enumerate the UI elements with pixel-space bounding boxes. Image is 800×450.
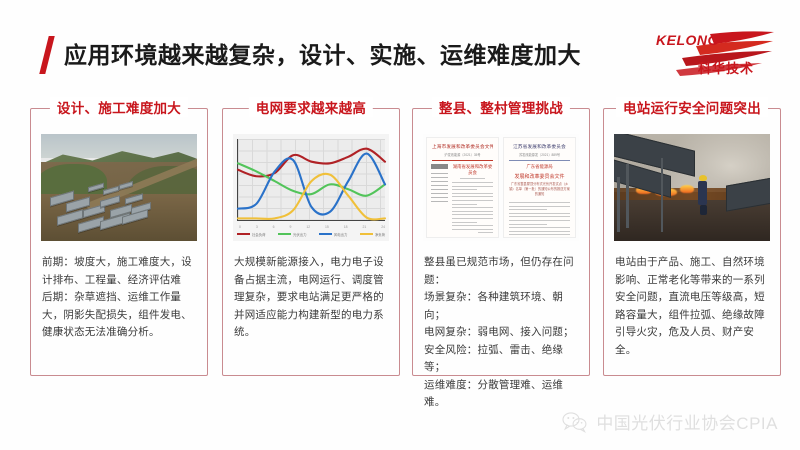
logo-latin-text: KELONG — [656, 32, 719, 48]
legend-label: 风电出力 — [334, 232, 348, 237]
legend-label: 净负荷 — [375, 232, 385, 237]
legend-swatch — [278, 233, 291, 235]
panel-title: 电网要求越来越高 — [249, 97, 373, 117]
panel-title: 整县、整村管理挑战 — [432, 97, 570, 117]
title-accent-slash — [39, 36, 54, 74]
kelong-logo: KELONG 科华技术 — [652, 28, 778, 84]
panel-body-text: 电站由于产品、施工、自然环境影响、正常老化等带来的一系列安全问题，直流电压等级高… — [615, 254, 771, 359]
document-red-title: 湖南省发展和改革委员会 — [452, 164, 493, 176]
panel-body-text: 前期：坡度大，施工难度大，设计排布、工程量、经济评估难 后期：杂草遮挡、运维工作… — [42, 254, 198, 342]
legend-label: 光伏出力 — [293, 232, 307, 237]
chart-plot-area — [237, 139, 385, 221]
slide-root: 应用环境越来越复杂，设计、实施、运维难度加大 KELONG 科华技术 设计、施工… — [0, 0, 800, 450]
panel-body-text: 整县虽已规范市场，但仍存在问题： 场景复杂：各种建筑环境、朝向； 电网复杂：弱电… — [424, 254, 580, 412]
panel-county-village-management: 整县、整村管理挑战 上海市发展和改革委员会文件 沪发改能源〔2021〕35号 湖… — [412, 108, 590, 376]
document-note: 广东省整县屋顶分布式光伏开发试点（乡镇）名单〔第一批〕的通知公布的报送方案的通知 — [509, 182, 570, 197]
panel-operation-safety: 电站运行安全问题突出 电站由于产品、施工、自然环境影响、正常老化等带来的一系列安… — [603, 108, 781, 376]
panel-title: 设计、施工难度加大 — [50, 97, 188, 117]
document-header: 江苏省发展和改革委员会 — [509, 144, 570, 150]
document-body-lines — [452, 178, 493, 233]
chart-container: 03691215182124 社会负荷光伏出力风电出力净负荷 — [233, 134, 389, 241]
page-title: 应用环境越来越复杂，设计、实施、运维难度加大 — [64, 36, 581, 74]
government-policy-documents: 上海市发展和改革委员会文件 沪发改能源〔2021〕35号 湖南省发展和改革委员会 — [423, 134, 579, 241]
document-subheader: 沪发改能源〔2021〕35号 — [432, 152, 493, 157]
policy-document-jiangsu-guangdong: 江苏省发展和改革委员会 苏发改能源发〔2021〕889号 广东省能源局 发展和改… — [503, 137, 576, 238]
legend-swatch — [319, 233, 332, 235]
legend-swatch — [237, 233, 250, 235]
document-org: 广东省能源局 — [509, 164, 570, 170]
wechat-icon — [562, 411, 588, 433]
legend-swatch — [360, 233, 373, 235]
chart-legend-item: 净负荷 — [360, 232, 385, 237]
chart-legend-item: 社会负荷 — [237, 232, 266, 237]
panel-grid-requirements: 电网要求越来越高 03691215182124 社会负荷光伏出力风电出力净负荷 … — [222, 108, 400, 376]
slide-header: 应用环境越来越复杂，设计、实施、运维难度加大 KELONG 科华技术 — [0, 0, 800, 92]
hillside-solar-farm-photo — [41, 134, 197, 241]
policy-document-shanghai: 上海市发展和改革委员会文件 沪发改能源〔2021〕35号 湖南省发展和改革委员会 — [426, 137, 499, 238]
solar-plant-fire-photo — [614, 134, 770, 241]
document-subheader: 苏发改能源发〔2021〕889号 — [509, 152, 570, 157]
document-header: 上海市发展和改革委员会文件 — [432, 144, 493, 150]
panel-body-text: 大规模新能源接入，电力电子设备占据主流，电网运行、调度管理复杂，要求电站满足更严… — [234, 254, 390, 342]
footer-watermark: 中国光伏行业协会CPIA — [562, 409, 778, 434]
logo-chinese-text: 科华技术 — [698, 58, 754, 77]
legend-label: 社会负荷 — [252, 232, 266, 237]
chart-line-光伏出力 — [238, 163, 385, 195]
document-body-lines — [509, 202, 570, 238]
panel-title: 电站运行安全问题突出 — [616, 97, 768, 117]
panel-design-construction: 设计、施工难度加大 前期：坡度大，施工难度大，设计排布、工程量、经济评估难 后 — [30, 108, 208, 376]
chart-series-lines — [238, 139, 385, 220]
footer-text: 中国光伏行业协会CPIA — [596, 409, 778, 434]
chart-legend: 社会负荷光伏出力风电出力净负荷 — [237, 229, 385, 239]
document-sidebar — [431, 164, 448, 205]
chart-legend-item: 光伏出力 — [278, 232, 307, 237]
power-grid-load-chart: 03691215182124 社会负荷光伏出力风电出力净负荷 — [233, 134, 389, 241]
document-red-title: 发展和改革委员会文件 — [509, 173, 570, 180]
chart-legend-item: 风电出力 — [319, 232, 348, 237]
